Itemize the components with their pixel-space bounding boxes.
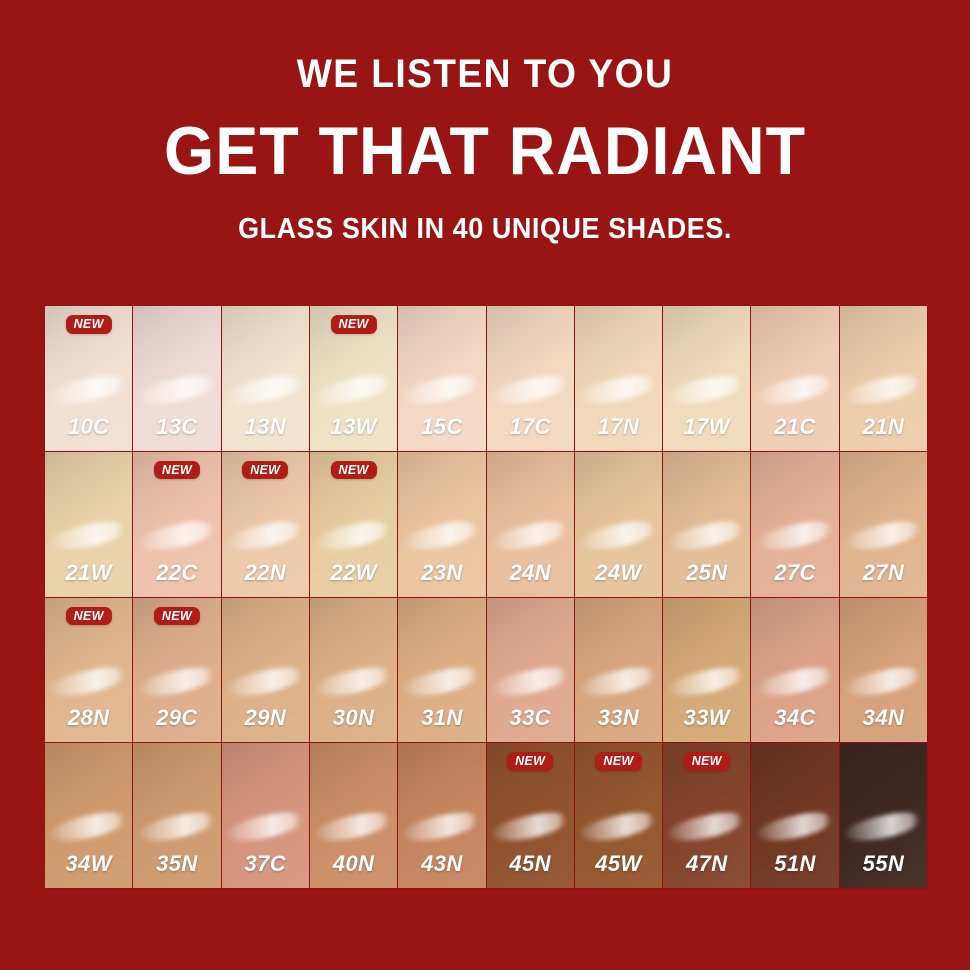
shade-label: 34C bbox=[751, 705, 838, 731]
shade-swatch-45w[interactable]: NEW45W bbox=[575, 743, 662, 888]
shade-label: 35N bbox=[133, 851, 220, 877]
shade-label: 23N bbox=[398, 560, 485, 586]
shade-swatch-27c[interactable]: 27C bbox=[751, 452, 838, 597]
new-badge: NEW bbox=[595, 752, 641, 771]
shade-swatch-51n[interactable]: 51N bbox=[751, 743, 838, 888]
shade-swatch-47n[interactable]: NEW47N bbox=[663, 743, 750, 888]
shade-swatch-24n[interactable]: 24N bbox=[487, 452, 574, 597]
shade-label: 17W bbox=[663, 414, 750, 440]
shade-swatch-43n[interactable]: 43N bbox=[398, 743, 485, 888]
shade-swatch-17w[interactable]: 17W bbox=[663, 306, 750, 451]
new-badge: NEW bbox=[154, 461, 200, 480]
shade-swatch-33n[interactable]: 33N bbox=[575, 598, 662, 743]
shade-label: 55N bbox=[840, 851, 927, 877]
shade-swatch-35n[interactable]: 35N bbox=[133, 743, 220, 888]
new-badge: NEW bbox=[242, 461, 288, 480]
shade-label: 25N bbox=[663, 560, 750, 586]
shade-label: 27C bbox=[751, 560, 838, 586]
new-badge: NEW bbox=[330, 461, 376, 480]
shade-swatch-30n[interactable]: 30N bbox=[310, 598, 397, 743]
shade-swatch-17c[interactable]: 17C bbox=[487, 306, 574, 451]
shade-grid: NEW10C13C13NNEW13W15C17C17N17W21C21N21WN… bbox=[44, 305, 928, 889]
shade-swatch-25n[interactable]: 25N bbox=[663, 452, 750, 597]
heading-main: GET THAT RADIANT bbox=[24, 116, 946, 187]
new-badge: NEW bbox=[684, 752, 730, 771]
heading-sub: GLASS SKIN IN 40 UNIQUE SHADES. bbox=[34, 215, 936, 244]
shade-swatch-21w[interactable]: 21W bbox=[45, 452, 132, 597]
shade-swatch-22w[interactable]: NEW22W bbox=[310, 452, 397, 597]
shade-label: 13W bbox=[310, 414, 397, 440]
shade-swatch-28n[interactable]: NEW28N bbox=[45, 598, 132, 743]
new-badge: NEW bbox=[66, 315, 112, 334]
shade-label: 21C bbox=[751, 414, 838, 440]
heading-block: WE LISTEN TO YOU GET THAT RADIANT GLASS … bbox=[0, 0, 970, 244]
shade-label: 33C bbox=[487, 705, 574, 731]
shade-label: 22N bbox=[222, 560, 309, 586]
shade-label: 21W bbox=[45, 560, 132, 586]
shade-swatch-22n[interactable]: NEW22N bbox=[222, 452, 309, 597]
shade-label: 45W bbox=[575, 851, 662, 877]
heading-eyebrow: WE LISTEN TO YOU bbox=[34, 54, 936, 94]
shade-label: 28N bbox=[45, 705, 132, 731]
shade-label: 40N bbox=[310, 851, 397, 877]
shade-swatch-34c[interactable]: 34C bbox=[751, 598, 838, 743]
shade-swatch-34w[interactable]: 34W bbox=[45, 743, 132, 888]
shade-label: 34W bbox=[45, 851, 132, 877]
shade-swatch-17n[interactable]: 17N bbox=[575, 306, 662, 451]
shade-label: 37C bbox=[222, 851, 309, 877]
shade-label: 17N bbox=[575, 414, 662, 440]
shade-swatch-55n[interactable]: 55N bbox=[840, 743, 927, 888]
shade-label: 29N bbox=[222, 705, 309, 731]
shade-label: 27N bbox=[840, 560, 927, 586]
shade-swatch-15c[interactable]: 15C bbox=[398, 306, 485, 451]
shade-label: 33N bbox=[575, 705, 662, 731]
shade-swatch-13c[interactable]: 13C bbox=[133, 306, 220, 451]
shade-swatch-40n[interactable]: 40N bbox=[310, 743, 397, 888]
shade-label: 45N bbox=[487, 851, 574, 877]
shade-swatch-23n[interactable]: 23N bbox=[398, 452, 485, 597]
shade-swatch-31n[interactable]: 31N bbox=[398, 598, 485, 743]
shade-swatch-10c[interactable]: NEW10C bbox=[45, 306, 132, 451]
shade-swatch-21n[interactable]: 21N bbox=[840, 306, 927, 451]
shade-swatch-27n[interactable]: 27N bbox=[840, 452, 927, 597]
shade-label: 51N bbox=[751, 851, 838, 877]
shade-label: 31N bbox=[398, 705, 485, 731]
new-badge: NEW bbox=[154, 607, 200, 626]
shade-label: 15C bbox=[398, 414, 485, 440]
shade-swatch-34n[interactable]: 34N bbox=[840, 598, 927, 743]
shade-label: 22C bbox=[133, 560, 220, 586]
shade-swatch-33c[interactable]: 33C bbox=[487, 598, 574, 743]
shade-swatch-29c[interactable]: NEW29C bbox=[133, 598, 220, 743]
new-badge: NEW bbox=[330, 315, 376, 334]
shade-swatch-22c[interactable]: NEW22C bbox=[133, 452, 220, 597]
shade-label: 13N bbox=[222, 414, 309, 440]
shade-label: 33W bbox=[663, 705, 750, 731]
shade-swatch-13w[interactable]: NEW13W bbox=[310, 306, 397, 451]
shade-label: 17C bbox=[487, 414, 574, 440]
shade-swatch-24w[interactable]: 24W bbox=[575, 452, 662, 597]
shade-label: 10C bbox=[45, 414, 132, 440]
shade-label: 13C bbox=[133, 414, 220, 440]
new-badge: NEW bbox=[507, 752, 553, 771]
shade-label: 43N bbox=[398, 851, 485, 877]
shade-swatch-37c[interactable]: 37C bbox=[222, 743, 309, 888]
shade-swatch-45n[interactable]: NEW45N bbox=[487, 743, 574, 888]
shade-label: 21N bbox=[840, 414, 927, 440]
shade-swatch-13n[interactable]: 13N bbox=[222, 306, 309, 451]
shade-swatch-21c[interactable]: 21C bbox=[751, 306, 838, 451]
shade-label: 22W bbox=[310, 560, 397, 586]
shade-label: 24N bbox=[487, 560, 574, 586]
shade-label: 29C bbox=[133, 705, 220, 731]
new-badge: NEW bbox=[66, 607, 112, 626]
shade-label: 24W bbox=[575, 560, 662, 586]
shade-label: 30N bbox=[310, 705, 397, 731]
shade-swatch-33w[interactable]: 33W bbox=[663, 598, 750, 743]
shade-label: 34N bbox=[840, 705, 927, 731]
shade-label: 47N bbox=[663, 851, 750, 877]
shade-swatch-29n[interactable]: 29N bbox=[222, 598, 309, 743]
